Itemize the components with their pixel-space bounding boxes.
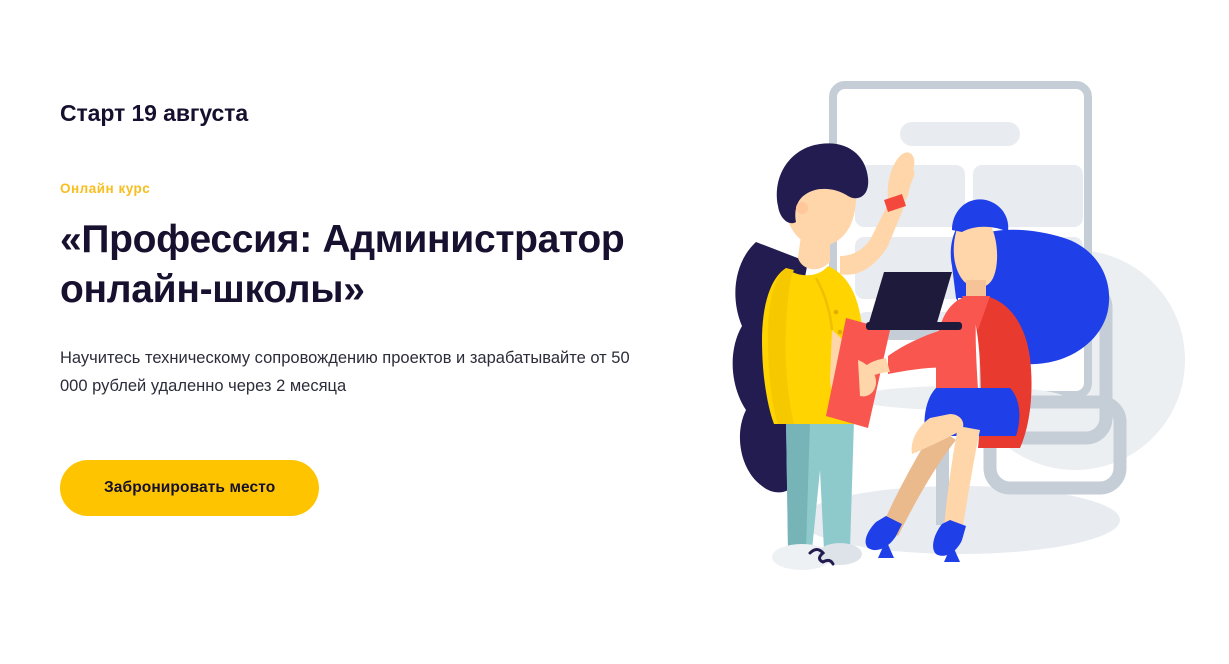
laptop-base [866, 322, 962, 330]
start-date-text: Старт 19 августа [60, 100, 700, 128]
hero-subtitle: Научитесь техническому сопровождению про… [60, 314, 660, 399]
book-place-button[interactable]: Забронировать место [60, 460, 319, 516]
top-button-1 [834, 310, 839, 315]
landing-hero-page: Старт 19 августа Онлайн курс «Профессия:… [0, 0, 1229, 664]
hero-illustration [690, 30, 1229, 640]
page-title: «Профессия: Администратор онлайн-школы» [60, 196, 670, 315]
course-format-eyebrow: Онлайн курс [60, 128, 700, 196]
ear [796, 202, 808, 214]
top-button-2 [838, 330, 843, 335]
cta-container: Забронировать место [60, 400, 700, 516]
hero-copy-column: Старт 19 августа Онлайн курс «Профессия:… [60, 100, 700, 516]
board-title-bar [900, 122, 1020, 146]
trousers-shade [786, 420, 810, 548]
